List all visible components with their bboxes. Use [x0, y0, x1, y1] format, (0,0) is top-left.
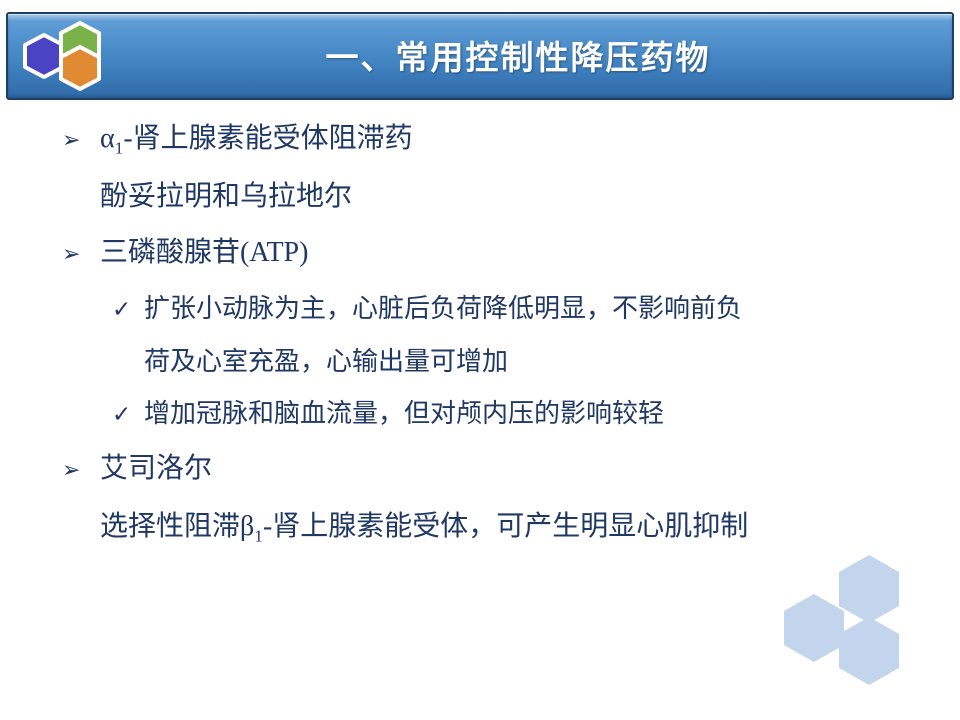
bullet-item-esmolol: ➢ 艾司洛尔	[0, 442, 960, 498]
sub-bullet-text: 荷及心室充盈，心输出量可增加	[144, 337, 508, 387]
sub-bullet-text: 扩张小动脉为主，心脏后负荷降低明显，不影响前负	[144, 284, 742, 334]
hexagon-blue-icon	[25, 35, 63, 77]
sub-bullet-subline-cardiac-output: 荷及心室充盈，心输出量可增加	[0, 337, 960, 387]
decorative-hexagons	[772, 547, 932, 702]
sub-bullet-item-arteriole-dilation: ✓ 扩张小动脉为主，心脏后负荷降低明显，不影响前负	[0, 284, 960, 335]
arrow-bullet-icon: ➢	[62, 114, 100, 168]
bullet-subline-beta1-selective: 选择性阻滞β1-肾上腺素能受体，可产生明显心肌抑制	[0, 500, 960, 554]
decor-hexagon-bottom-icon	[839, 617, 899, 685]
bullet-text: α1-肾上腺素能受体阻滞药	[100, 112, 413, 166]
arrow-bullet-icon: ➢	[62, 444, 100, 498]
check-bullet-icon: ✓	[112, 390, 144, 440]
beta-subscript: 1	[254, 527, 263, 546]
slide-root: 一、常用控制性降压药物 ➢ α1-肾上腺素能受体阻滞药 酚妥拉明和乌拉地尔 ➢	[0, 0, 960, 720]
arrow-bullet-icon: ➢	[62, 228, 100, 282]
hexagon-logo	[18, 18, 118, 94]
decor-hexagon-top-icon	[839, 555, 899, 623]
sub-bullet-item-coronary-cerebral-flow: ✓ 增加冠脉和脑血流量，但对颅内压的影响较轻	[0, 389, 960, 440]
check-bullet-icon: ✓	[112, 285, 144, 335]
slide-body: ➢ α1-肾上腺素能受体阻滞药 酚妥拉明和乌拉地尔 ➢ 三磷酸腺苷(ATP) ✓…	[0, 112, 960, 572]
bullet-text-rest: -肾上腺素能受体阻滞药	[123, 123, 412, 154]
bullet-subline-phentolamine: 酚妥拉明和乌拉地尔	[0, 170, 960, 224]
bullet-text: 艾司洛尔	[100, 442, 212, 496]
title-bar: 一、常用控制性降压药物	[6, 12, 954, 100]
sub-bullet-text: 增加冠脉和脑血流量，但对颅内压的影响较轻	[144, 389, 664, 439]
alpha-symbol: α	[100, 123, 115, 154]
bullet-item-alpha1-blocker: ➢ α1-肾上腺素能受体阻滞药	[0, 112, 960, 168]
hexagon-orange-icon	[61, 47, 99, 89]
bullet-item-atp: ➢ 三磷酸腺苷(ATP)	[0, 226, 960, 282]
bullet-text-rest: -肾上腺素能受体，可产生明显心肌抑制	[263, 511, 748, 542]
bullet-text: 选择性阻滞β1-肾上腺素能受体，可产生明显心肌抑制	[100, 500, 748, 554]
bullet-text: 三磷酸腺苷(ATP)	[100, 226, 308, 280]
bullet-text: 酚妥拉明和乌拉地尔	[100, 170, 352, 224]
decor-hexagon-left-icon	[784, 594, 844, 662]
page-title: 一、常用控制性降压药物	[168, 26, 868, 90]
beta-prefix-text: 选择性阻滞β	[100, 511, 254, 542]
